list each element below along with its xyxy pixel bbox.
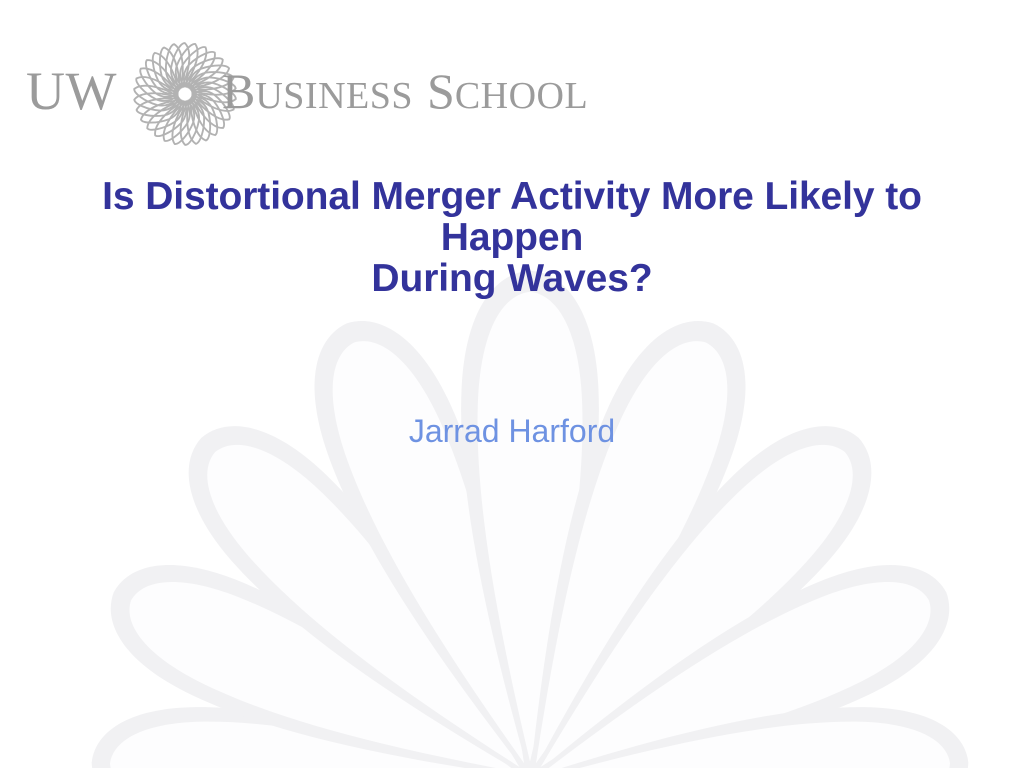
slide-title-line-2: During Waves? xyxy=(62,258,962,299)
logo-business-initial: B xyxy=(222,63,255,119)
logo-business-rest: USINESS xyxy=(255,75,413,117)
logo-school-rest: CHOOL xyxy=(455,75,588,117)
logo-school-initial: S xyxy=(427,63,455,119)
slide-author-name: Jarrad Harford xyxy=(62,412,962,450)
slide-title: Is Distortional Merger Activity More Lik… xyxy=(62,176,962,299)
presentation-title-slide: UW xyxy=(0,0,1024,768)
slide-title-line-1: Is Distortional Merger Activity More Lik… xyxy=(62,176,962,258)
uw-business-school-logo: UW xyxy=(26,38,626,150)
logo-uw-text: UW xyxy=(26,64,117,118)
logo-business-school-text: BUSINESSSCHOOL xyxy=(222,66,588,116)
